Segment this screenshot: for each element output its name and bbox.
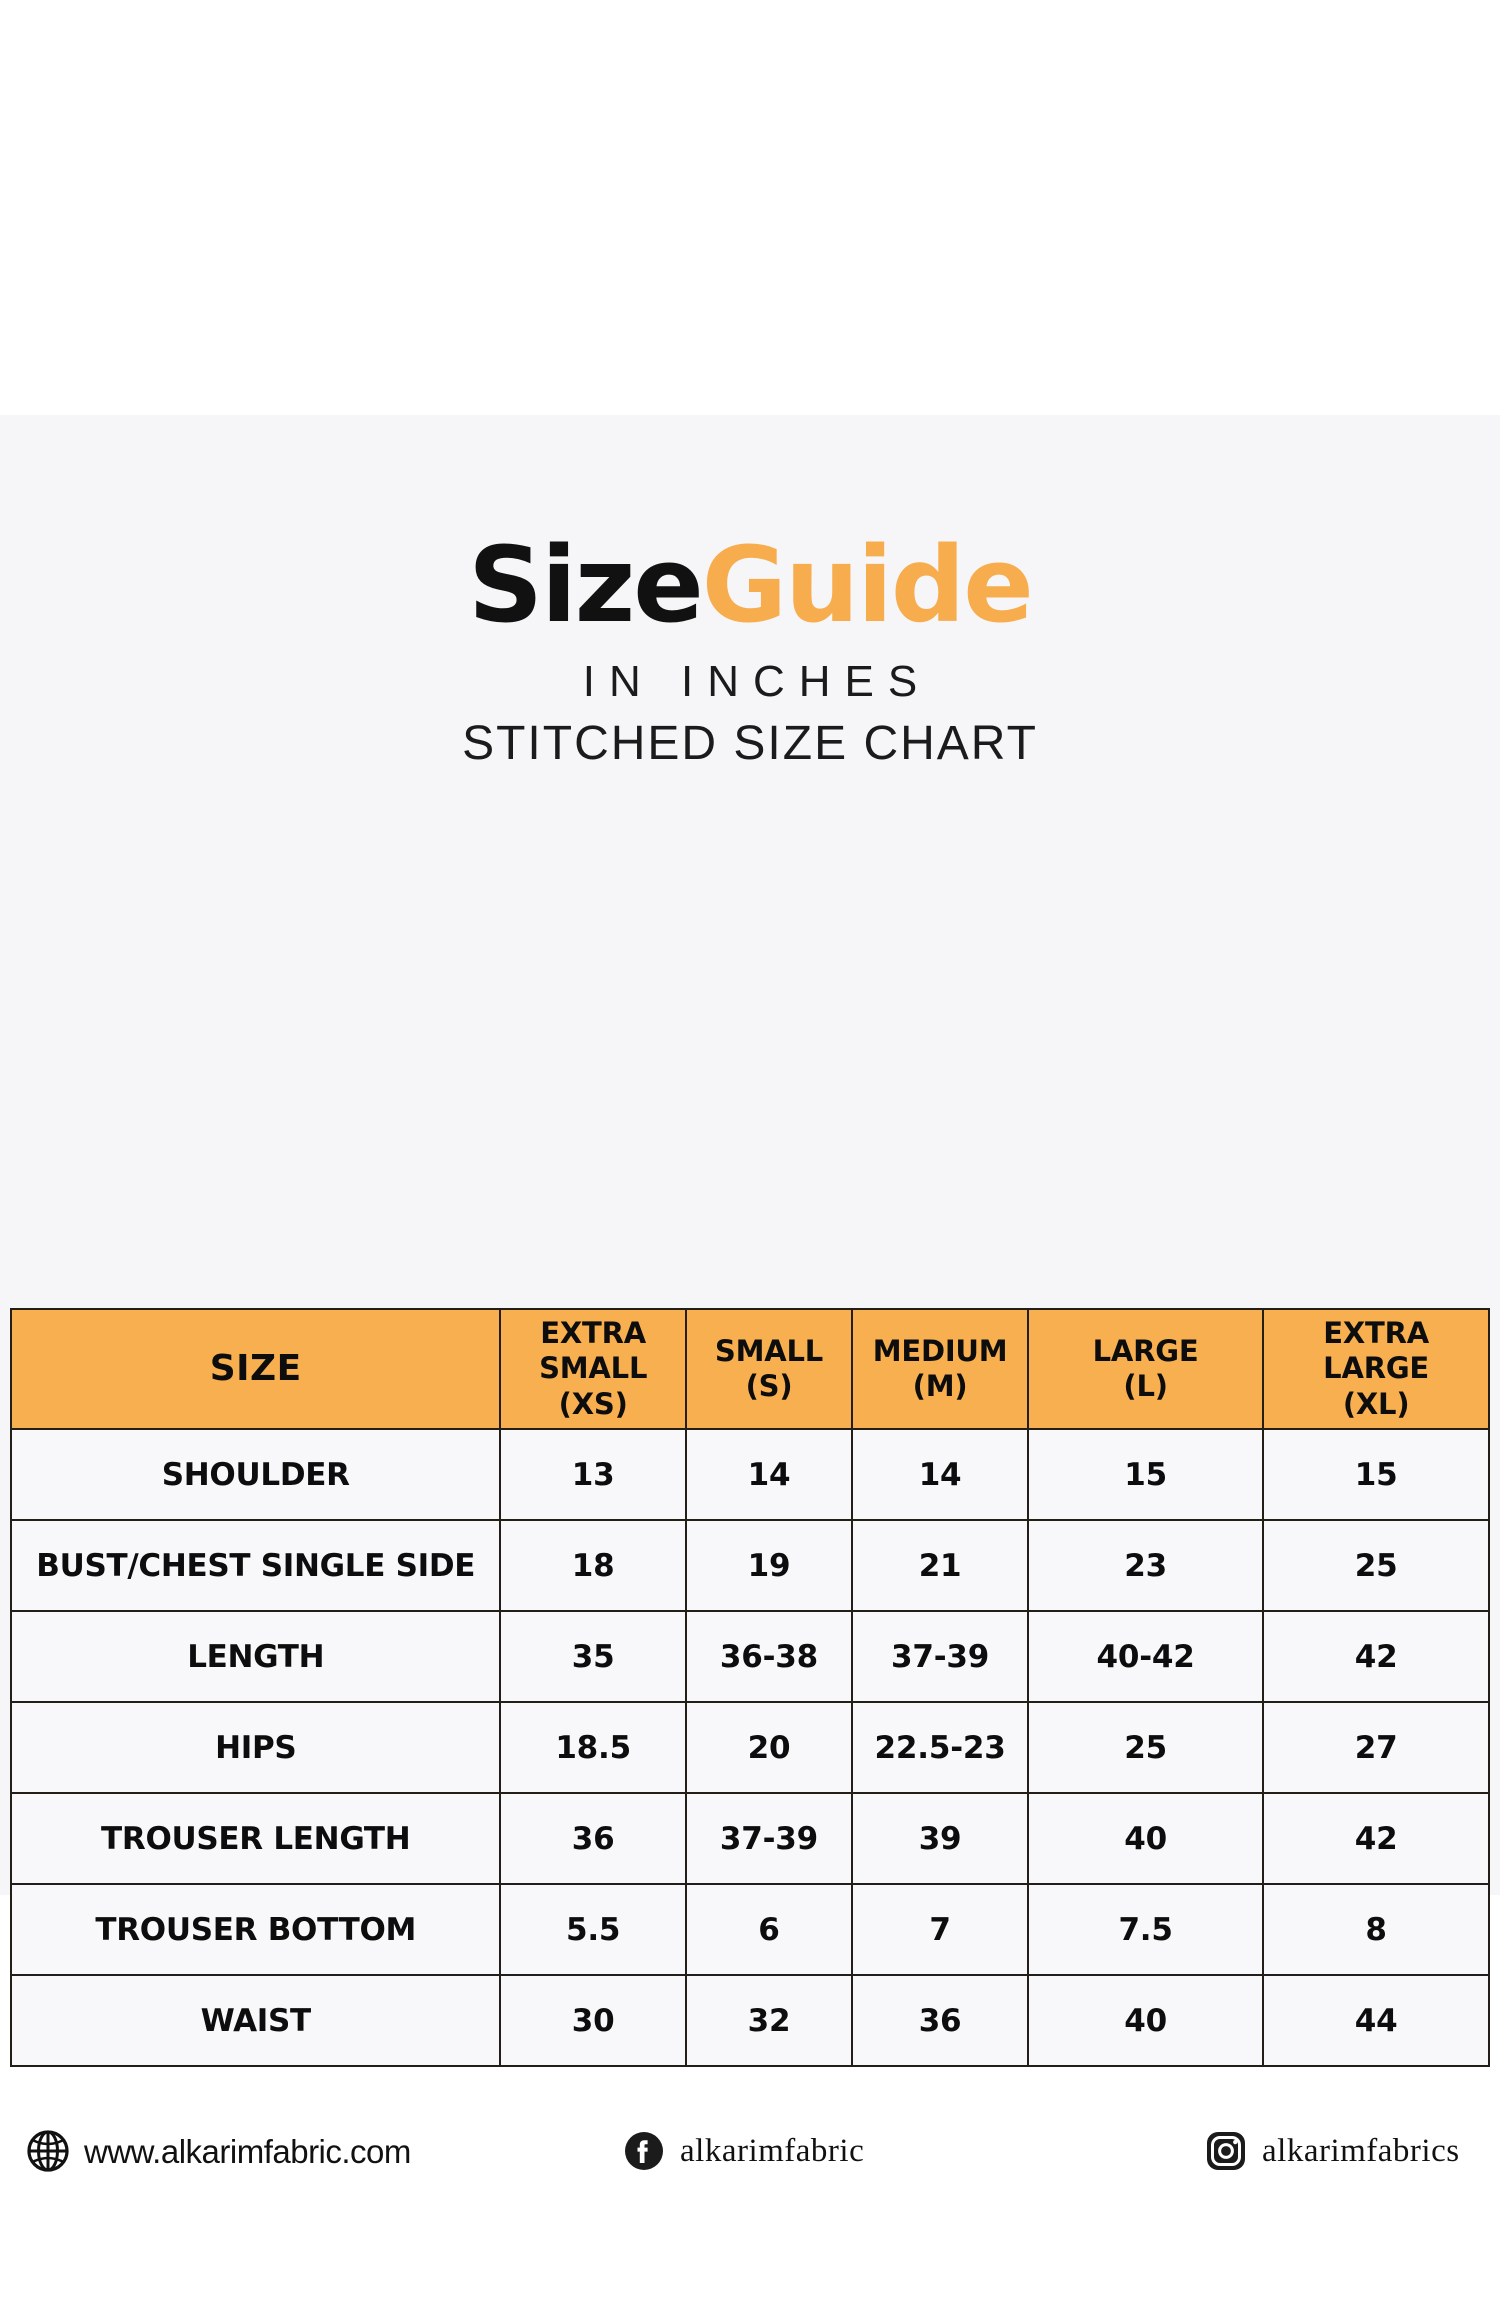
cell-length-xs: 35 <box>500 1611 685 1702</box>
row-label-length: LENGTH <box>11 1611 500 1702</box>
column-header-xl-line2: (XL) <box>1343 1387 1410 1421</box>
row-label-shoulder: SHOULDER <box>11 1429 500 1520</box>
cell-waist-xs: 30 <box>500 1975 685 2066</box>
cell-shoulder-l: 15 <box>1028 1429 1263 1520</box>
cell-length-m: 37-39 <box>852 1611 1028 1702</box>
header-block: SizeGuide IN INCHES STITCHED SIZE CHART <box>0 415 1500 770</box>
column-header-m-line1: MEDIUM <box>873 1334 1008 1368</box>
cell-trouser-bottom-m: 7 <box>852 1884 1028 1975</box>
facebook-label: alkarimfabric <box>680 2135 864 2168</box>
row-label-trouser-length: TROUSER LENGTH <box>11 1793 500 1884</box>
size-guide-page: SizeGuide IN INCHES STITCHED SIZE CHART … <box>0 0 1500 2300</box>
column-header-size-label: SIZE <box>210 1348 302 1389</box>
row-label-hips: HIPS <box>11 1702 500 1793</box>
column-header-l: LARGE(L) <box>1028 1309 1263 1429</box>
cell-trouser-bottom-xs: 5.5 <box>500 1884 685 1975</box>
globe-icon <box>26 2129 70 2173</box>
cell-trouser-length-l: 40 <box>1028 1793 1263 1884</box>
cell-hips-xs: 18.5 <box>500 1702 685 1793</box>
cell-bust-l: 23 <box>1028 1520 1263 1611</box>
column-header-l-line2: (L) <box>1123 1369 1167 1403</box>
table-row: LENGTH 35 36-38 37-39 40-42 42 <box>11 1611 1489 1702</box>
table-row: WAIST 30 32 36 40 44 <box>11 1975 1489 2066</box>
column-header-xs-line2: SMALL (XS) <box>539 1351 647 1420</box>
table-row: HIPS 18.5 20 22.5-23 25 27 <box>11 1702 1489 1793</box>
subtitle-units: IN INCHES <box>0 637 1500 705</box>
page-title-size: Size <box>468 524 702 646</box>
instagram-label: alkarimfabrics <box>1262 2135 1460 2168</box>
column-header-size: SIZE <box>11 1309 500 1429</box>
cell-waist-xl: 44 <box>1263 1975 1489 2066</box>
cell-length-l: 40-42 <box>1028 1611 1263 1702</box>
cell-trouser-length-s: 37-39 <box>686 1793 852 1884</box>
size-chart-table: SIZE EXTRASMALL (XS) SMALL(S) MEDIUM(M) … <box>10 1308 1490 2067</box>
cell-bust-xs: 18 <box>500 1520 685 1611</box>
content-panel: SizeGuide IN INCHES STITCHED SIZE CHART … <box>0 415 1500 1895</box>
column-header-s-line2: (S) <box>746 1369 793 1403</box>
facebook-link[interactable]: alkarimfabric <box>622 2121 864 2181</box>
table-header-row: SIZE EXTRASMALL (XS) SMALL(S) MEDIUM(M) … <box>11 1309 1489 1429</box>
cell-trouser-length-xl: 42 <box>1263 1793 1489 1884</box>
table-row: BUST/CHEST SINGLE SIDE 18 19 21 23 25 <box>11 1520 1489 1611</box>
cell-bust-xl: 25 <box>1263 1520 1489 1611</box>
facebook-icon <box>622 2129 666 2173</box>
column-header-s: SMALL(S) <box>686 1309 852 1429</box>
cell-shoulder-xl: 15 <box>1263 1429 1489 1520</box>
column-header-m: MEDIUM(M) <box>852 1309 1028 1429</box>
column-header-xs: EXTRASMALL (XS) <box>500 1309 685 1429</box>
table-row: TROUSER LENGTH 36 37-39 39 40 42 <box>11 1793 1489 1884</box>
column-header-l-line1: LARGE <box>1093 1334 1199 1368</box>
cell-hips-xl: 27 <box>1263 1702 1489 1793</box>
instagram-icon <box>1204 2129 1248 2173</box>
cell-shoulder-s: 14 <box>686 1429 852 1520</box>
row-label-waist: WAIST <box>11 1975 500 2066</box>
size-chart-table-wrapper: SIZE EXTRASMALL (XS) SMALL(S) MEDIUM(M) … <box>10 1308 1490 2067</box>
cell-length-xl: 42 <box>1263 1611 1489 1702</box>
column-header-xs-line1: EXTRA <box>540 1316 646 1350</box>
cell-trouser-bottom-xl: 8 <box>1263 1884 1489 1975</box>
cell-hips-l: 25 <box>1028 1702 1263 1793</box>
cell-bust-s: 19 <box>686 1520 852 1611</box>
cell-trouser-bottom-s: 6 <box>686 1884 852 1975</box>
table-row: TROUSER BOTTOM 5.5 6 7 7.5 8 <box>11 1884 1489 1975</box>
footer-social-bar: www.alkarimfabric.com alkarimfabric alka… <box>0 2115 1500 2195</box>
cell-shoulder-m: 14 <box>852 1429 1028 1520</box>
cell-shoulder-xs: 13 <box>500 1429 685 1520</box>
cell-length-s: 36-38 <box>686 1611 852 1702</box>
cell-trouser-length-m: 39 <box>852 1793 1028 1884</box>
column-header-m-line2: (M) <box>913 1369 968 1403</box>
table-header: SIZE EXTRASMALL (XS) SMALL(S) MEDIUM(M) … <box>11 1309 1489 1429</box>
page-title-guide: Guide <box>702 524 1032 646</box>
cell-trouser-length-xs: 36 <box>500 1793 685 1884</box>
cell-hips-m: 22.5-23 <box>852 1702 1028 1793</box>
website-link[interactable]: www.alkarimfabric.com <box>26 2121 411 2181</box>
column-header-xl: EXTRA LARGE(XL) <box>1263 1309 1489 1429</box>
cell-trouser-bottom-l: 7.5 <box>1028 1884 1263 1975</box>
table-body: SHOULDER 13 14 14 15 15 BUST/CHEST SINGL… <box>11 1429 1489 2066</box>
table-row: SHOULDER 13 14 14 15 15 <box>11 1429 1489 1520</box>
instagram-link[interactable]: alkarimfabrics <box>1204 2121 1460 2181</box>
cell-hips-s: 20 <box>686 1702 852 1793</box>
row-label-bust-chest-single-side: BUST/CHEST SINGLE SIDE <box>11 1520 500 1611</box>
cell-waist-m: 36 <box>852 1975 1028 2066</box>
page-title: SizeGuide <box>0 415 1500 637</box>
website-label: www.alkarimfabric.com <box>84 2135 411 2168</box>
cell-waist-s: 32 <box>686 1975 852 2066</box>
row-label-trouser-bottom: TROUSER BOTTOM <box>11 1884 500 1975</box>
cell-bust-m: 21 <box>852 1520 1028 1611</box>
cell-waist-l: 40 <box>1028 1975 1263 2066</box>
column-header-xl-line1: EXTRA LARGE <box>1323 1316 1429 1385</box>
subtitle-chart-type: STITCHED SIZE CHART <box>0 705 1500 769</box>
column-header-s-line1: SMALL <box>715 1334 823 1368</box>
